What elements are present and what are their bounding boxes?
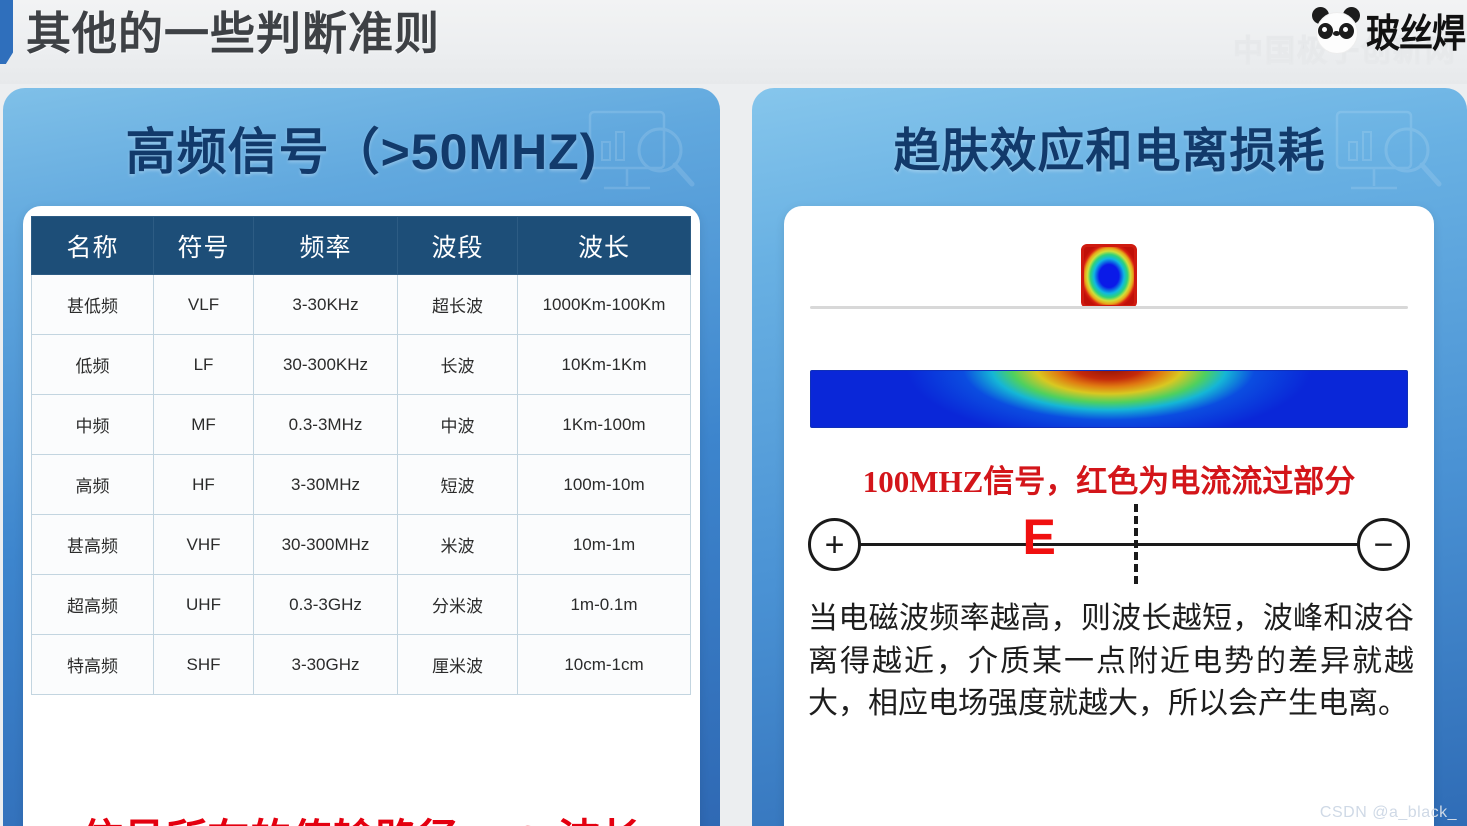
cell-symbol: SHF	[154, 635, 254, 695]
midpoint-dashed-line	[1134, 504, 1138, 584]
cell-name: 高频	[32, 455, 154, 515]
table-row: 特高频 SHF 3-30GHz 厘米波 10cm-1cm	[32, 635, 691, 695]
circuit-diagram: + E −	[800, 506, 1418, 580]
table-row: 甚高频 VHF 30-300MHz 米波 10m-1m	[32, 515, 691, 575]
cell-wavelength: 10m-1m	[518, 515, 691, 575]
brand-logo-text: 玻丝焊	[1366, 2, 1465, 58]
cell-frequency: 3-30GHz	[254, 635, 398, 695]
cell-symbol: UHF	[154, 575, 254, 635]
cell-wavelength: 10Km-1Km	[518, 335, 691, 395]
cell-band: 超长波	[398, 275, 518, 335]
cell-band: 中波	[398, 395, 518, 455]
cell-symbol: LF	[154, 335, 254, 395]
cell-name: 中频	[32, 395, 154, 455]
table-row: 甚低频 VLF 3-30KHz 超长波 1000Km-100Km	[32, 275, 691, 335]
cell-band: 长波	[398, 335, 518, 395]
table-row: 高频 HF 3-30MHz 短波 100m-10m	[32, 455, 691, 515]
cell-frequency: 0.3-3GHz	[254, 575, 398, 635]
table-row: 中频 MF 0.3-3MHz 中波 1Km-100m	[32, 395, 691, 455]
left-card-footnote: 信号所在的传输路径>1/6*波长	[23, 806, 700, 826]
brand-logo: 玻丝焊	[1310, 0, 1465, 60]
cell-wavelength: 1m-0.1m	[518, 575, 691, 635]
page-header: 其他的一些判断准则 中国极子创新网 玻丝焊	[0, 0, 1467, 84]
cell-wavelength: 1Km-100m	[518, 395, 691, 455]
frequency-table-panel: 名称 符号 频率 波段 波长 甚低频 VLF 3-30KHz 超长波 1000K…	[23, 206, 700, 826]
cell-wavelength: 10cm-1cm	[518, 635, 691, 695]
header-accent-bar	[0, 0, 13, 64]
right-card-title: 趋肤效应和电离损耗	[752, 112, 1467, 181]
negative-terminal-icon: −	[1357, 518, 1410, 571]
left-card: 高频信号（>50MHZ) 名称 符号 频率 波段 波长 甚低频 VLF 3-30…	[3, 88, 720, 826]
cell-symbol: MF	[154, 395, 254, 455]
frequency-band-table: 名称 符号 频率 波段 波长 甚低频 VLF 3-30KHz 超长波 1000K…	[31, 216, 691, 695]
cell-band: 短波	[398, 455, 518, 515]
table-header-row: 名称 符号 频率 波段 波长	[32, 217, 691, 275]
dielectric-surface-line	[810, 306, 1408, 309]
column-header-wavelength: 波长	[518, 217, 691, 275]
simulation-caption: 100MHZ信号，红色为电流流过部分	[784, 456, 1434, 501]
cell-name: 甚高频	[32, 515, 154, 575]
table-row: 低频 LF 30-300KHz 长波 10Km-1Km	[32, 335, 691, 395]
cell-band: 分米波	[398, 575, 518, 635]
column-header-frequency: 频率	[254, 217, 398, 275]
left-card-title: 高频信号（>50MHZ)	[3, 112, 720, 184]
cell-frequency: 3-30KHz	[254, 275, 398, 335]
table-row: 超高频 UHF 0.3-3GHz 分米波 1m-0.1m	[32, 575, 691, 635]
cell-name: 特高频	[32, 635, 154, 695]
circuit-wire	[852, 543, 1366, 546]
cell-name: 甚低频	[32, 275, 154, 335]
skin-effect-panel: 100MHZ信号，红色为电流流过部分 + E − 当电磁波频率越高，则波长越短，…	[784, 206, 1434, 826]
cell-wavelength: 100m-10m	[518, 455, 691, 515]
cell-symbol: VHF	[154, 515, 254, 575]
cell-band: 米波	[398, 515, 518, 575]
column-header-symbol: 符号	[154, 217, 254, 275]
positive-terminal-icon: +	[808, 518, 861, 571]
cell-band: 厘米波	[398, 635, 518, 695]
explanation-text: 当电磁波频率越高，则波长越短，波峰和波谷离得越近，介质某一点附近电势的差异就越大…	[808, 598, 1414, 726]
cell-symbol: VLF	[154, 275, 254, 335]
column-header-band: 波段	[398, 217, 518, 275]
page-title: 其他的一些判断准则	[26, 0, 440, 62]
cell-name: 低频	[32, 335, 154, 395]
electric-field-label: E	[1022, 512, 1055, 562]
current-density-simulation	[784, 222, 1434, 432]
cell-frequency: 30-300MHz	[254, 515, 398, 575]
right-card: 趋肤效应和电离损耗 100MHZ信号，红色为电流流过部分 + E − 当电磁波频…	[752, 88, 1467, 826]
ground-plane-cross-section	[810, 370, 1408, 428]
cell-frequency: 3-30MHz	[254, 455, 398, 515]
panda-icon	[1310, 6, 1362, 54]
cell-symbol: HF	[154, 455, 254, 515]
column-header-name: 名称	[32, 217, 154, 275]
cell-frequency: 30-300KHz	[254, 335, 398, 395]
cell-frequency: 0.3-3MHz	[254, 395, 398, 455]
cell-name: 超高频	[32, 575, 154, 635]
cell-wavelength: 1000Km-100Km	[518, 275, 691, 335]
trace-cross-section	[1081, 244, 1137, 308]
csdn-watermark: CSDN @a_black_	[1320, 804, 1457, 822]
